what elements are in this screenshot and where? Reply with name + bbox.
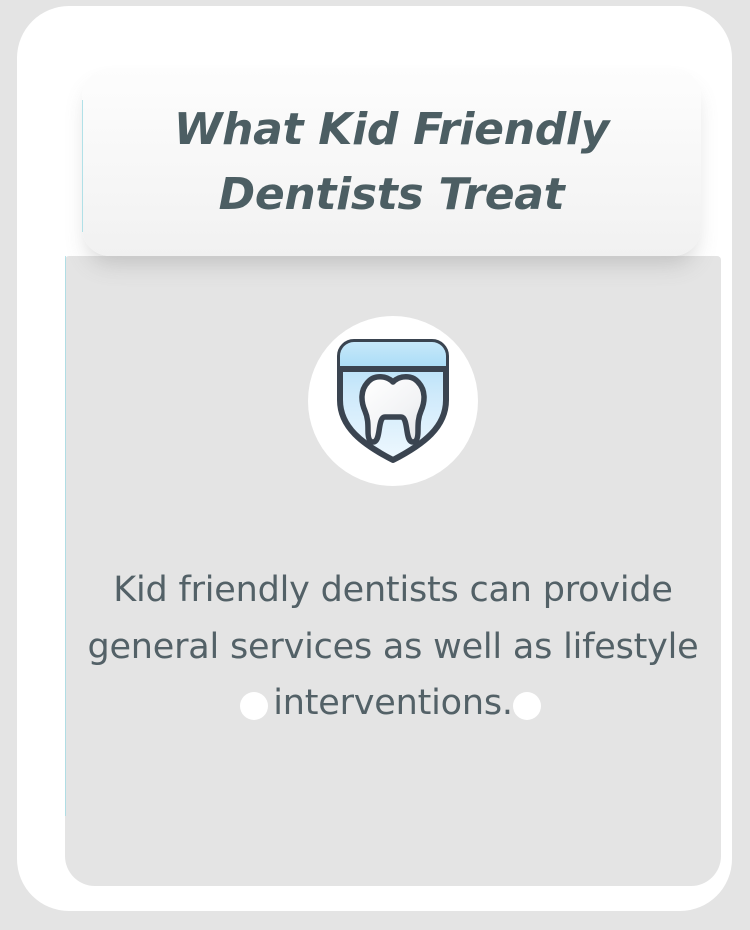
page-title: What Kid Friendly Dentists Treat [112, 97, 672, 227]
tooth-shield-icon [334, 336, 452, 466]
card-title-banner: What Kid Friendly Dentists Treat [82, 68, 701, 256]
icon-badge [308, 316, 478, 486]
icon-row [65, 311, 721, 491]
card-description: Kid friendly dentists can provide genera… [85, 562, 701, 732]
content-card: What Kid Friendly Dentists Treat [17, 6, 732, 911]
